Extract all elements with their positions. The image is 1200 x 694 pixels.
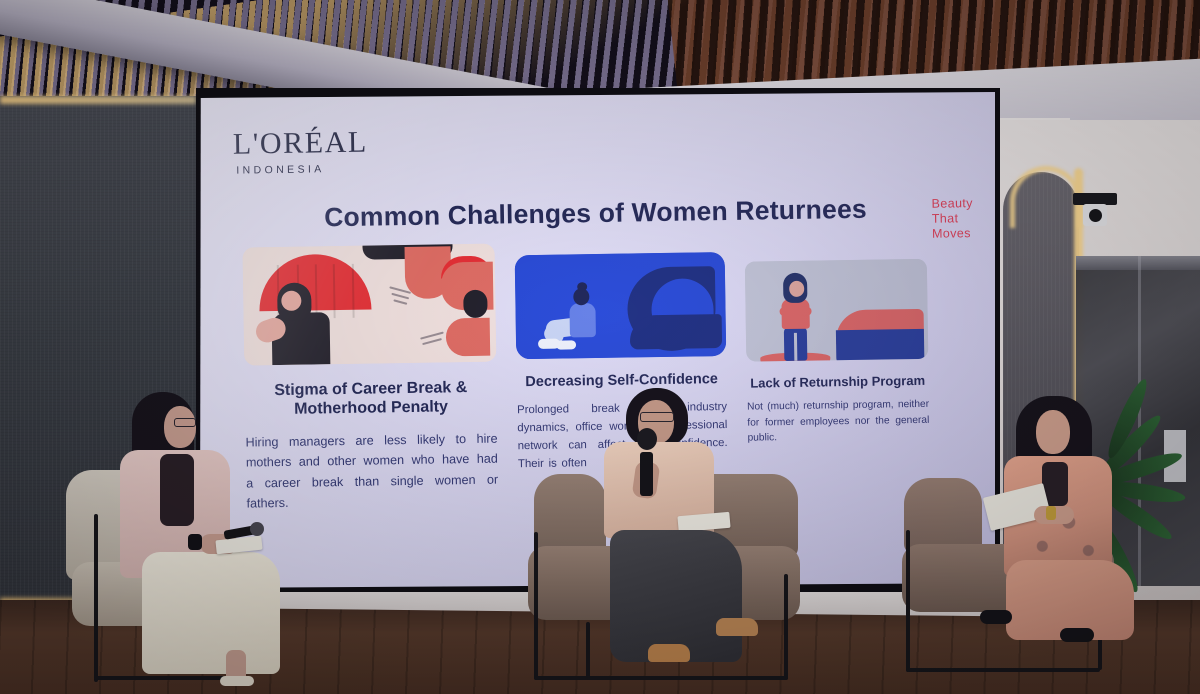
speaker-right-shoe-back: [1060, 628, 1094, 642]
speaker-right-face: [1036, 410, 1070, 454]
speaker-right: [1000, 396, 1170, 656]
speaker-center-microphone: [640, 452, 653, 496]
speaker-center-mic-head: [637, 428, 657, 450]
conference-panel-scene: L'ORÉAL INDONESIA Beauty That Moves Comm…: [0, 0, 1200, 694]
armchair-left-frame: [94, 514, 98, 682]
speaker-right-shoe-front: [980, 610, 1012, 624]
speaker-left-watch: [188, 534, 202, 550]
armchair-right-back: [904, 478, 982, 554]
speaker-center-shoe-front: [648, 644, 690, 662]
armchair-center-frame: [586, 622, 590, 678]
speaker-center-shoe-back: [716, 618, 758, 636]
speaker-left-shoe: [220, 676, 254, 686]
loreal-country: INDONESIA: [236, 163, 368, 177]
armchair-right-frame: [906, 668, 1100, 672]
speaker-left-trousers: [142, 552, 280, 674]
armchair-right-frame: [906, 530, 910, 672]
slide-title: Common Challenges of Women Returnees: [200, 192, 993, 235]
illustration-confidence: [515, 252, 727, 359]
speaker-center: [596, 388, 796, 678]
loreal-logo: L'ORÉAL INDONESIA: [233, 128, 369, 177]
camera-lens-icon: [1089, 209, 1102, 222]
armchair-center-frame: [534, 532, 538, 680]
speaker-left: [108, 392, 298, 682]
illustration-stigma: [243, 244, 497, 366]
illustration-returnship: [745, 259, 929, 362]
speaker-left-face: [164, 406, 196, 448]
loreal-wordmark: L'ORÉAL: [233, 128, 368, 160]
left-wall-led-strip: [0, 96, 196, 104]
speaker-left-glasses: [174, 418, 196, 427]
speaker-center-skirt: [610, 530, 742, 662]
speaker-right-watch: [1046, 506, 1056, 520]
speaker-center-glasses: [640, 412, 674, 422]
speaker-left-mic-head: [250, 522, 264, 536]
alcove-led-arch: [1010, 166, 1082, 228]
speaker-left-inner-top: [160, 454, 194, 526]
